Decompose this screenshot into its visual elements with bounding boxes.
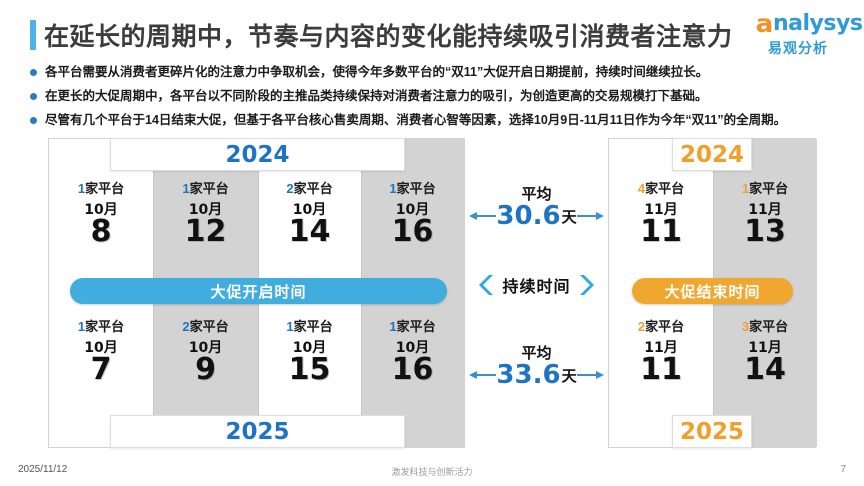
avg-value-row: 33.6 天 <box>465 361 608 389</box>
list-item: 在更长的大促周期中，各平台以不同阶段的主推品类持续保持对消费者注意力的吸引，为创… <box>30 88 840 107</box>
data-cell: 1家平台 10月 8 <box>49 181 153 247</box>
year-label-text: 2025 <box>225 419 289 445</box>
platform-unit: 家平台 <box>85 181 124 196</box>
year-label-text: 2025 <box>680 419 744 445</box>
avg-value: 30.6 <box>496 202 560 230</box>
bullet-text: 各平台需要从消费者更碎片化的注意力中争取机会，使得今年多数平台的“双11”大促开… <box>45 64 708 81</box>
platform-count-label: 2家平台 <box>153 319 258 334</box>
platform-unit: 家平台 <box>190 181 229 196</box>
data-cell: 2家平台 11月 11 <box>609 319 713 385</box>
arrow-right-icon <box>577 368 605 382</box>
analysys-logo: a nalysys 易观分析 <box>742 10 854 56</box>
platform-count: 1 <box>182 181 189 196</box>
platform-unit: 家平台 <box>294 181 333 196</box>
bullet-list: 各平台需要从消费者更碎片化的注意力中争取机会，使得今年多数平台的“双11”大促开… <box>30 64 840 136</box>
data-cell: 3家平台 11月 14 <box>713 319 817 385</box>
day-value: 12 <box>153 217 258 247</box>
arrow-right-icon <box>577 209 605 223</box>
day-value: 15 <box>258 355 361 385</box>
bullet-text: 尽管有几个平台于14日结束大促，但基于各平台核心售卖周期、消费者心智等因素，选择… <box>45 112 786 129</box>
avg-duration-2025: 平均 33.6 天 <box>465 345 608 389</box>
platform-unit: 家平台 <box>397 319 436 334</box>
year-label-text: 2024 <box>680 142 744 168</box>
platform-unit: 家平台 <box>645 181 684 196</box>
platform-unit: 家平台 <box>397 181 436 196</box>
data-cell: 2家平台 10月 14 <box>258 181 361 247</box>
day-value: 14 <box>713 355 817 385</box>
pill-label: 大促结束时间 <box>664 281 760 302</box>
day-value: 16 <box>361 355 464 385</box>
day-value: 13 <box>713 217 817 247</box>
logo-wordmark: a nalysys <box>742 10 854 36</box>
avg-value: 33.6 <box>496 361 560 389</box>
data-cell: 1家平台 10月 12 <box>153 181 258 247</box>
data-cell: 1家平台 10月 16 <box>361 181 464 247</box>
chevron-left-icon <box>479 273 495 297</box>
data-cell: 1家平台 10月 7 <box>49 319 153 385</box>
platform-count-label: 1家平台 <box>361 319 464 334</box>
platform-count: 2 <box>182 319 189 334</box>
platform-count-label: 1家平台 <box>49 319 153 334</box>
arrow-left-icon <box>468 209 496 223</box>
platform-count: 1 <box>286 319 293 334</box>
platform-count: 1 <box>389 319 396 334</box>
day-value: 9 <box>153 355 258 385</box>
platform-unit: 家平台 <box>645 319 684 334</box>
day-value: 11 <box>609 355 713 385</box>
day-value: 11 <box>609 217 713 247</box>
day-value: 16 <box>361 217 464 247</box>
title-accent-bar <box>30 20 36 50</box>
page-title: 在延长的周期中，节奏与内容的变化能持续吸引消费者注意力 <box>44 17 733 53</box>
platform-count-label: 4家平台 <box>609 181 713 196</box>
platform-unit: 家平台 <box>294 319 333 334</box>
data-cell: 1家平台 11月 13 <box>713 181 817 247</box>
year-label-2025-left: 2025 <box>110 415 405 448</box>
day-value: 8 <box>49 217 153 247</box>
avg-unit: 天 <box>562 206 577 227</box>
duration-label: 持续时间 <box>502 273 570 297</box>
arrow-left-icon <box>468 368 496 382</box>
platform-unit: 家平台 <box>749 319 788 334</box>
data-cell: 2家平台 10月 9 <box>153 319 258 385</box>
year-label-2024-left: 2024 <box>110 138 405 171</box>
avg-duration-2024: 平均 30.6 天 <box>465 186 608 230</box>
pill-label: 大促开启时间 <box>210 281 306 302</box>
logo-a-glyph-icon: a <box>756 9 774 38</box>
platform-count: 1 <box>389 181 396 196</box>
year-label-text: 2024 <box>225 142 289 168</box>
data-cell: 4家平台 11月 11 <box>609 181 713 247</box>
bullet-text: 在更长的大促周期中，各平台以不同阶段的主推品类持续保持对消费者注意力的吸引，为创… <box>45 88 708 105</box>
platform-count: 2 <box>286 181 293 196</box>
bullet-dot-icon <box>30 69 37 76</box>
platform-unit: 家平台 <box>749 181 788 196</box>
duration-label-group: 持续时间 <box>465 273 608 297</box>
page-header: 在延长的周期中，节奏与内容的变化能持续吸引消费者注意力 a nalysys 易观… <box>0 0 864 62</box>
end-time-pill: 大促结束时间 <box>632 278 793 304</box>
platform-count-label: 1家平台 <box>361 181 464 196</box>
year-label-2025-right: 2025 <box>672 415 752 448</box>
avg-value-row: 30.6 天 <box>465 202 608 230</box>
day-value: 7 <box>49 355 153 385</box>
footer-slogan: 激发科技与创新活力 <box>0 465 864 478</box>
chevron-right-icon <box>578 273 594 297</box>
avg-unit: 天 <box>562 365 577 386</box>
platform-count-label: 2家平台 <box>609 319 713 334</box>
bullet-dot-icon <box>30 117 37 124</box>
platform-count-label: 1家平台 <box>713 181 817 196</box>
year-label-2024-right: 2024 <box>672 138 752 171</box>
platform-count-label: 1家平台 <box>49 181 153 196</box>
platform-count-label: 1家平台 <box>153 181 258 196</box>
footer-page-number: 7 <box>840 464 846 475</box>
data-cell: 1家平台 10月 16 <box>361 319 464 385</box>
page-footer: 2025/11/12 激发科技与创新活力 7 <box>0 458 864 486</box>
chart-area: 2024 2025 1家平台 10月 8 1家平台 10月 12 2家平台 10… <box>0 133 864 453</box>
logo-chinese-name: 易观分析 <box>742 38 854 58</box>
platform-count-label: 2家平台 <box>258 181 361 196</box>
logo-name: nalysys <box>773 11 862 36</box>
bullet-dot-icon <box>30 93 37 100</box>
platform-unit: 家平台 <box>85 319 124 334</box>
day-value: 14 <box>258 217 361 247</box>
data-cell: 1家平台 10月 15 <box>258 319 361 385</box>
list-item: 各平台需要从消费者更碎片化的注意力中争取机会，使得今年多数平台的“双11”大促开… <box>30 64 840 83</box>
platform-count-label: 1家平台 <box>258 319 361 334</box>
duration-stats: 平均 30.6 天 持续时间 平均 <box>465 133 608 453</box>
start-time-pill: 大促开启时间 <box>70 278 447 304</box>
platform-unit: 家平台 <box>190 319 229 334</box>
list-item: 尽管有几个平台于14日结束大促，但基于各平台核心售卖周期、消费者心智等因素，选择… <box>30 112 840 131</box>
platform-count-label: 3家平台 <box>713 319 817 334</box>
